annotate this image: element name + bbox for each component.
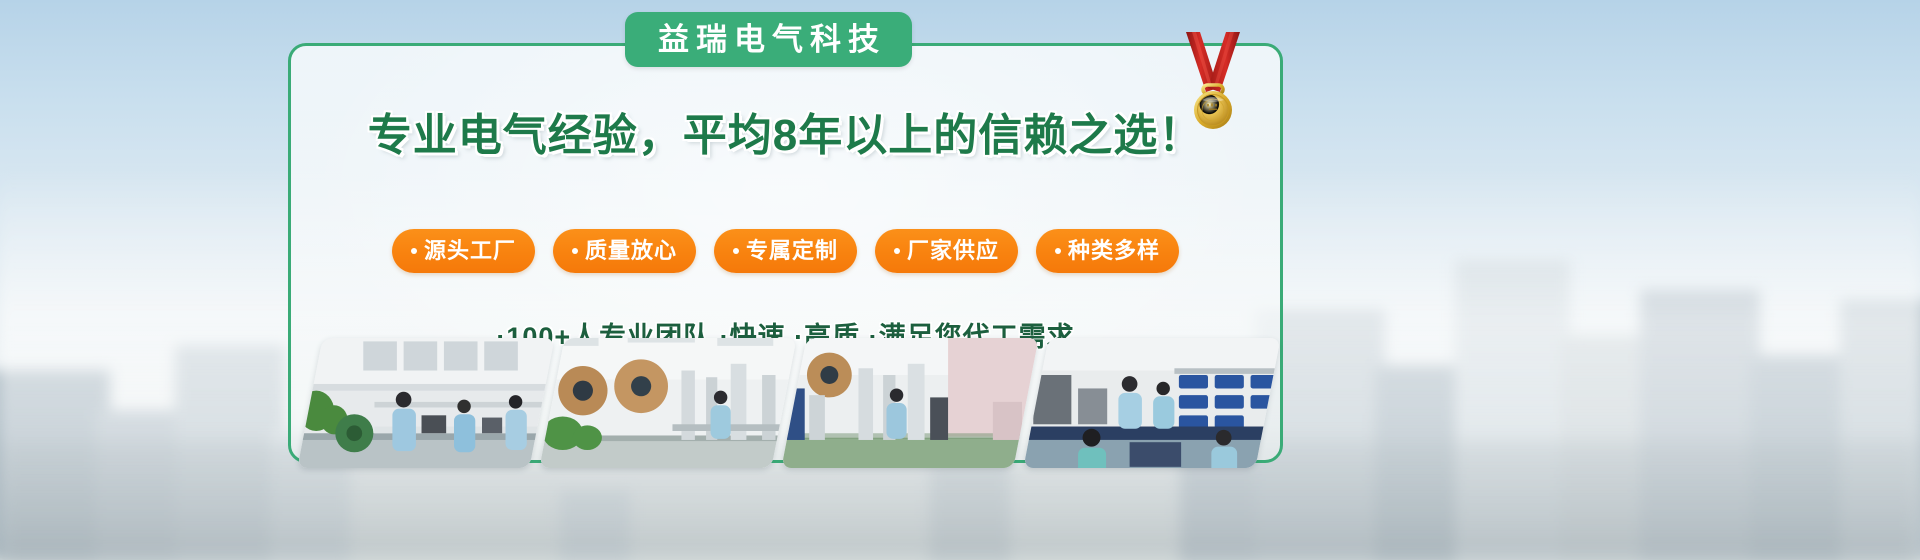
page-title: 专业电气经验，平均8年以上的信赖之选！ xyxy=(288,99,1283,163)
factory-photo-0-image xyxy=(297,338,554,468)
feature-pill-3[interactable]: 厂家供应 xyxy=(875,229,1018,273)
feature-pill-2[interactable]: 专属定制 xyxy=(714,229,857,273)
bullet-dot-icon xyxy=(733,248,739,254)
factory-photo-2-image xyxy=(781,338,1038,468)
company-name-text: 益瑞电气科技 xyxy=(651,24,886,55)
factory-photo-strip xyxy=(310,338,1270,468)
feature-pill-label: 专属定制 xyxy=(746,240,838,262)
factory-photo-3-image xyxy=(1023,338,1280,468)
factory-photo-2[interactable] xyxy=(781,338,1038,468)
factory-photo-0[interactable] xyxy=(297,338,554,468)
factory-photo-3[interactable] xyxy=(1023,338,1280,468)
factory-photo-1-image xyxy=(539,338,796,468)
gold-medal-icon xyxy=(1180,30,1246,130)
feature-pill-list: 源头工厂 质量放心 专属定制 厂家供应 种类多样 xyxy=(288,229,1283,273)
bullet-dot-icon xyxy=(894,248,900,254)
promo-banner: 益瑞电气科技 xyxy=(0,0,1920,560)
feature-pill-1[interactable]: 质量放心 xyxy=(553,229,696,273)
bullet-dot-icon xyxy=(572,248,578,254)
feature-pill-label: 源头工厂 xyxy=(424,240,516,262)
feature-pill-0[interactable]: 源头工厂 xyxy=(392,229,535,273)
feature-pill-label: 种类多样 xyxy=(1068,240,1160,262)
factory-photo-1[interactable] xyxy=(539,338,796,468)
feature-pill-label: 厂家供应 xyxy=(907,240,999,262)
company-name-badge: 益瑞电气科技 xyxy=(625,12,912,67)
bullet-dot-icon xyxy=(411,248,417,254)
feature-pill-4[interactable]: 种类多样 xyxy=(1036,229,1179,273)
bullet-dot-icon xyxy=(1055,248,1061,254)
feature-pill-label: 质量放心 xyxy=(585,240,677,262)
